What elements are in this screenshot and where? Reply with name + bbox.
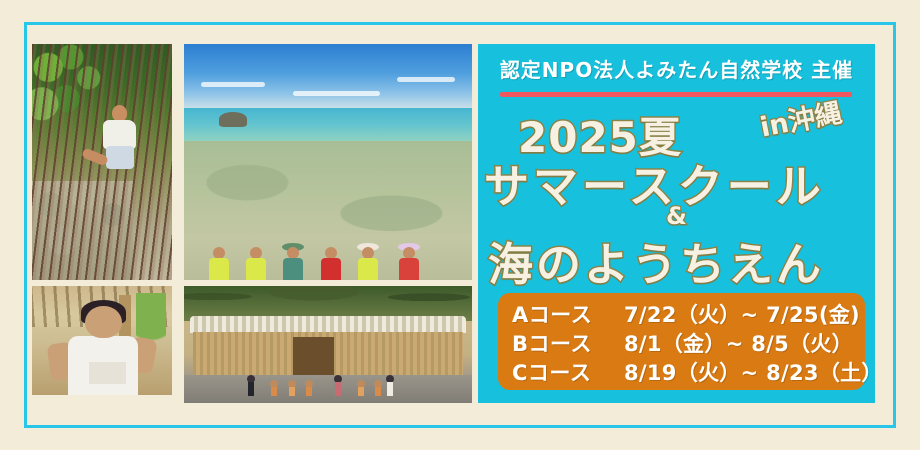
tshirt-print xyxy=(89,362,125,384)
photo-girl-peace-sign xyxy=(32,286,172,395)
figure-body xyxy=(335,382,341,396)
cloud xyxy=(201,82,264,87)
offshore-rock xyxy=(219,112,248,126)
title-ampersand: & xyxy=(478,202,875,230)
course-schedule-box: Aコース 7/22（火）~ 7/25(金) Bコース 8/1（金）~ 8/5（火… xyxy=(498,293,865,390)
foliage-through-window xyxy=(136,293,167,343)
figure-body xyxy=(289,387,295,396)
photo-wooden-schoolhouse xyxy=(184,286,472,403)
rash-guard xyxy=(283,258,303,280)
tiled-roof xyxy=(190,316,467,332)
course-row: Aコース 7/22（火）~ 7/25(金) xyxy=(498,299,865,328)
sandy-ground xyxy=(184,375,472,403)
course-label: Cコース xyxy=(512,357,624,387)
cloud xyxy=(397,77,455,82)
course-label: Bコース xyxy=(512,328,624,358)
organizer-line: 認定NPO法人よみたん自然学校 主催 xyxy=(478,54,875,83)
climbing-child xyxy=(99,105,149,181)
child-shirt xyxy=(103,120,136,149)
life-vest xyxy=(358,258,378,280)
course-dates: 7/22（火）~ 7/25(金) xyxy=(624,299,860,329)
figure-body xyxy=(387,382,393,396)
title-subtitle: 海のようちえん xyxy=(488,228,824,293)
course-dates: 8/19（火）~ 8/23（土） xyxy=(624,357,883,387)
life-vest xyxy=(246,258,266,280)
photo-children-group-at-beach xyxy=(184,44,472,280)
photo-child-climbing-banyan-tree xyxy=(32,44,172,280)
course-row: Cコース 8/19（火）~ 8/23（土） xyxy=(498,357,865,386)
course-dates: 8/1（金）~ 8/5（火） xyxy=(624,328,853,358)
info-panel: 認定NPO法人よみたん自然学校 主催 2025夏 in沖縄 サマースクール & … xyxy=(478,44,875,403)
organizer-underline xyxy=(500,92,852,97)
figure-body xyxy=(248,382,254,396)
red-life-vest xyxy=(321,258,341,280)
figure-body xyxy=(375,387,381,396)
girl-face xyxy=(85,306,121,339)
life-vest xyxy=(399,258,419,280)
course-label: Aコース xyxy=(512,299,624,329)
poster-root: 認定NPO法人よみたん自然学校 主催 2025夏 in沖縄 サマースクール & … xyxy=(0,0,920,450)
cloud xyxy=(293,91,379,96)
figure-body xyxy=(306,387,312,396)
child-shorts xyxy=(106,146,134,169)
course-row: Bコース 8/1（金）~ 8/5（火） xyxy=(498,328,865,357)
beach-sky xyxy=(184,44,472,108)
figure-body xyxy=(271,387,277,396)
doorway xyxy=(293,337,333,374)
title-location: in沖縄 xyxy=(756,91,844,145)
figure-body xyxy=(358,387,364,396)
life-vest xyxy=(209,258,229,280)
